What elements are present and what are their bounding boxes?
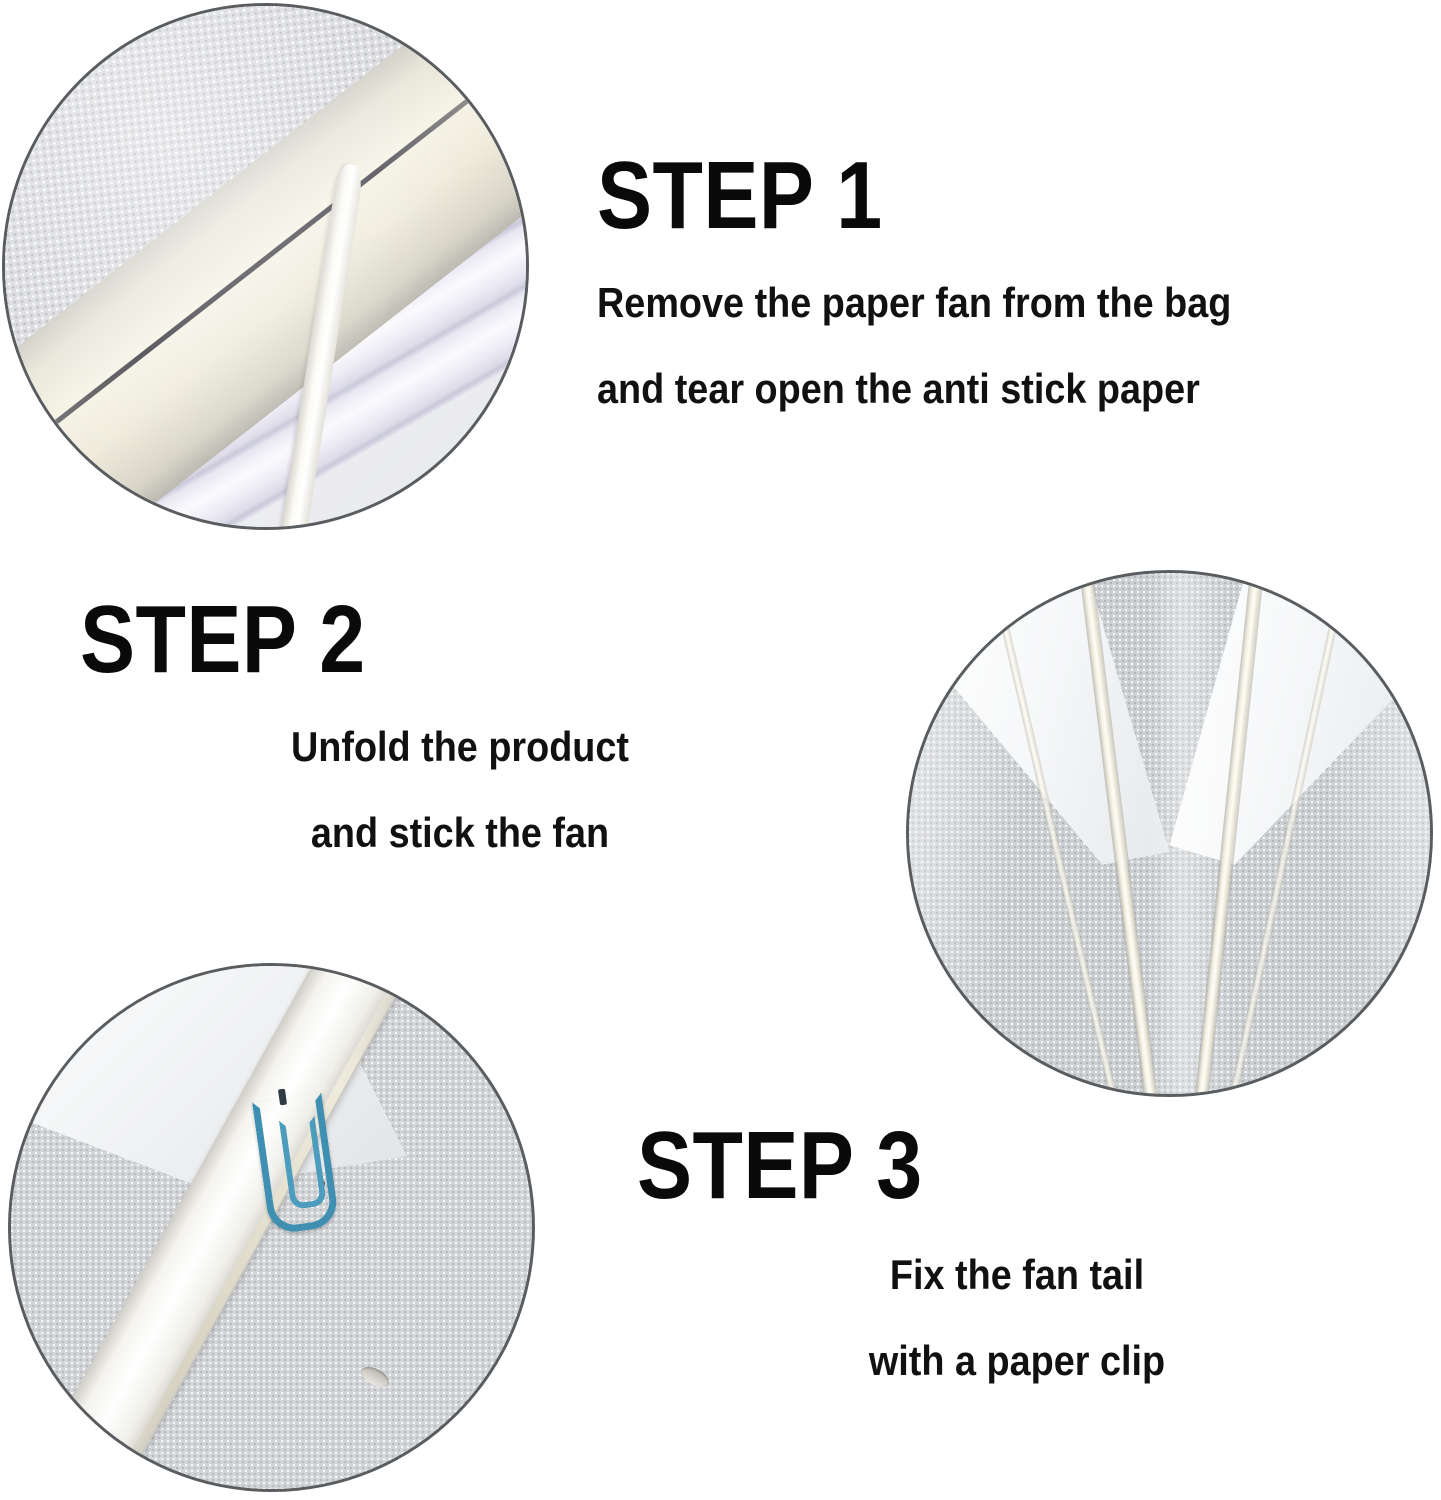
photo-step1-pleated-paper-fan [2,3,529,530]
step1-text-block: STEP 1 Remove the paper fan from the bag… [597,148,1397,410]
photo-step1-content [5,6,526,527]
center-fold-highlight [1149,573,1232,1094]
step1-heading: STEP 1 [597,148,1285,244]
photo-step2-content [909,573,1430,1094]
step1-line-2: and tear open the anti stick paper [597,368,1317,410]
step3-line-1: Fix the fan tail [675,1254,1359,1296]
step2-heading: STEP 2 [80,592,734,688]
highlight-sheen [5,6,526,527]
instruction-infographic: STEP 1 Remove the paper fan from the bag… [0,0,1441,1500]
step2-line-1: Unfold the product [118,726,802,768]
step3-line-2: with a paper clip [675,1340,1359,1382]
photo-step2-unfolded-fan-pleats [906,570,1433,1097]
step2-line-2: and stick the fan [118,812,802,854]
step1-line-1: Remove the paper fan from the bag [597,282,1317,324]
photo-step3-content [11,966,532,1489]
step3-heading: STEP 3 [637,1118,1291,1214]
step2-text-block: STEP 2 Unfold the product and stick the … [80,592,840,854]
photo-step3-fan-tail-paper-clip [8,963,535,1492]
step3-text-block: STEP 3 Fix the fan tail with a paper cli… [637,1118,1397,1382]
step1-description: Remove the paper fan from the bag and te… [597,282,1317,410]
step2-description: Unfold the product and stick the fan [118,726,802,854]
step3-description: Fix the fan tail with a paper clip [675,1254,1359,1382]
